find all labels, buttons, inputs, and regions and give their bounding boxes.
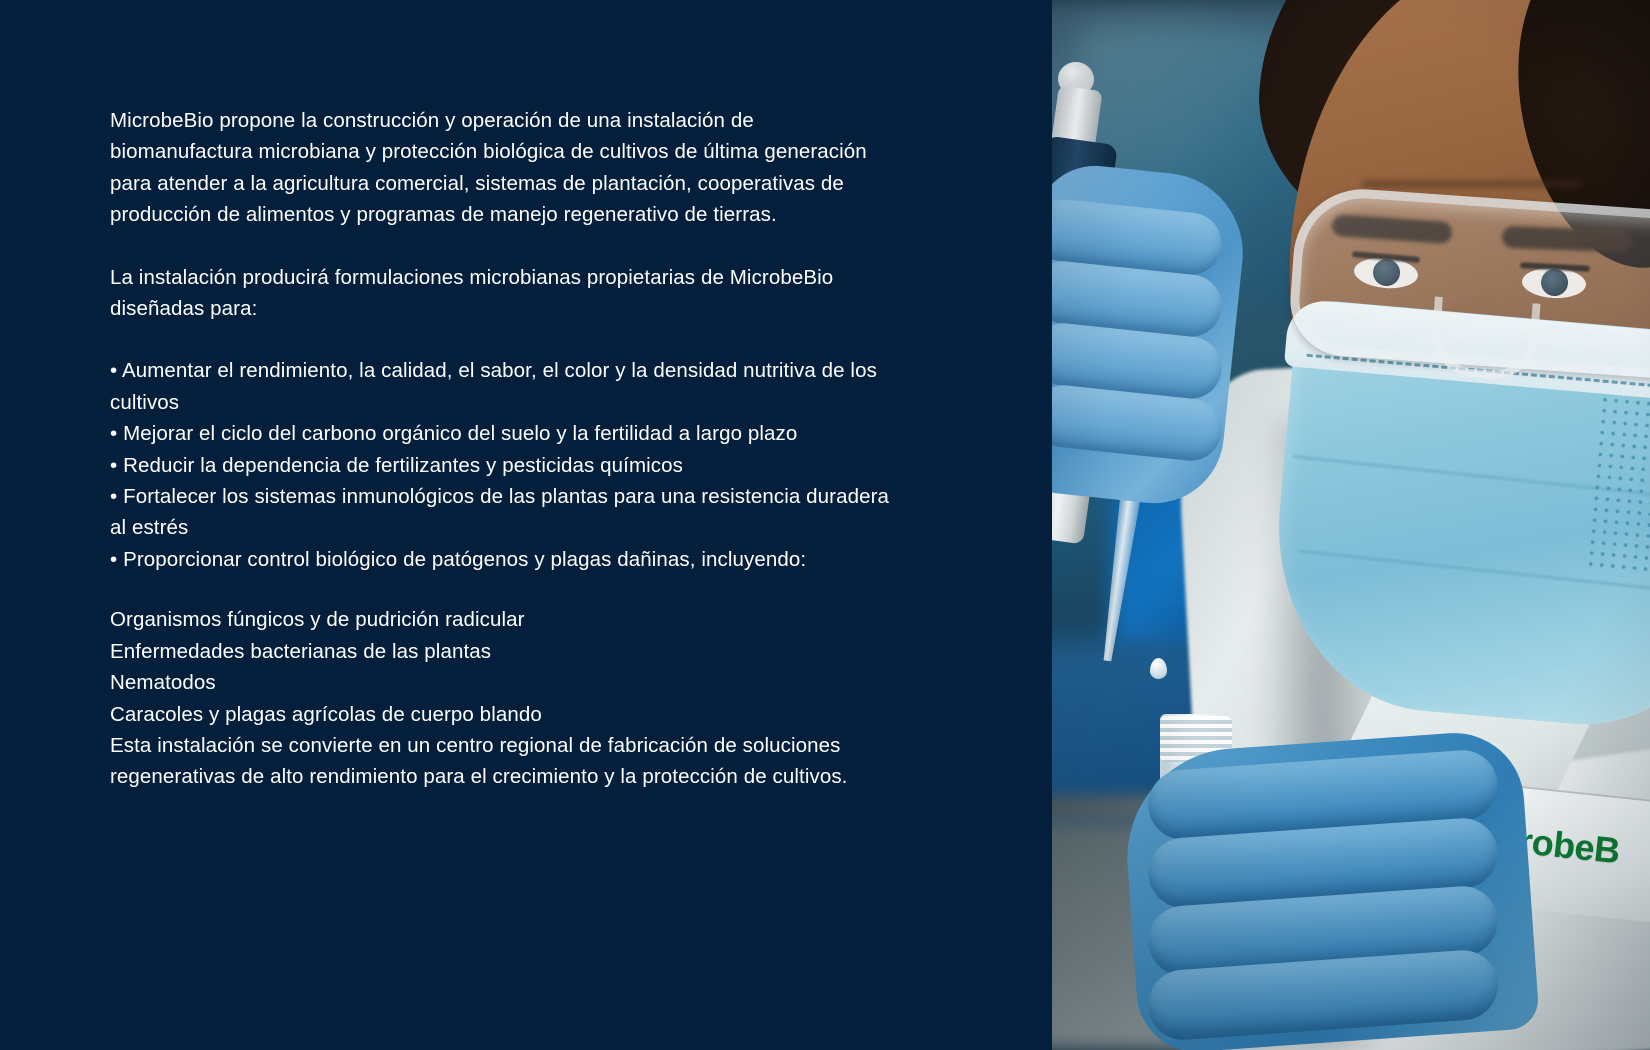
bullet-item-chemical-reduction: • Reducir la dependencia de fertilizante… xyxy=(110,450,900,481)
intro-paragraph: MicrobeBio propone la construcción y ope… xyxy=(110,105,900,231)
paragraph-spacer-3 xyxy=(110,575,900,604)
bullet-item-yield: • Aumentar el rendimiento, la calidad, e… xyxy=(110,355,900,418)
purpose-paragraph: La instalación producirá formulaciones m… xyxy=(110,262,900,325)
target-item-bacterial: Enfermedades bacterianas de las plantas xyxy=(110,636,900,667)
target-item-nematodes: Nematodos xyxy=(110,667,900,698)
paragraph-spacer-2 xyxy=(110,324,900,355)
target-item-snails: Caracoles y plagas agrícolas de cuerpo b… xyxy=(110,699,900,730)
slide-root: MicrobeBio propone la construcción y ope… xyxy=(0,0,1650,1050)
photo-inner: MicrobeB xyxy=(1052,0,1650,1050)
bullet-item-immune-systems: • Fortalecer los sistemas inmunológicos … xyxy=(110,481,900,544)
bullet-item-carbon: • Mejorar el ciclo del carbono orgánico … xyxy=(110,418,900,449)
forehead-crease xyxy=(1362,180,1582,188)
text-panel: MicrobeBio propone la construcción y ope… xyxy=(0,0,1052,1050)
liquid-droplet xyxy=(1150,658,1167,679)
closing-paragraph: Esta instalación se convierte en un cent… xyxy=(110,730,900,793)
body-copy-block: MicrobeBio propone la construcción y ope… xyxy=(110,105,900,793)
target-item-fungal: Organismos fúngicos y de pudrición radic… xyxy=(110,604,900,635)
paragraph-spacer-1 xyxy=(110,231,900,262)
lab-scientist-photo: MicrobeB xyxy=(1052,0,1650,1050)
bullet-item-biocontrol: • Proporcionar control biológico de pató… xyxy=(110,544,900,575)
